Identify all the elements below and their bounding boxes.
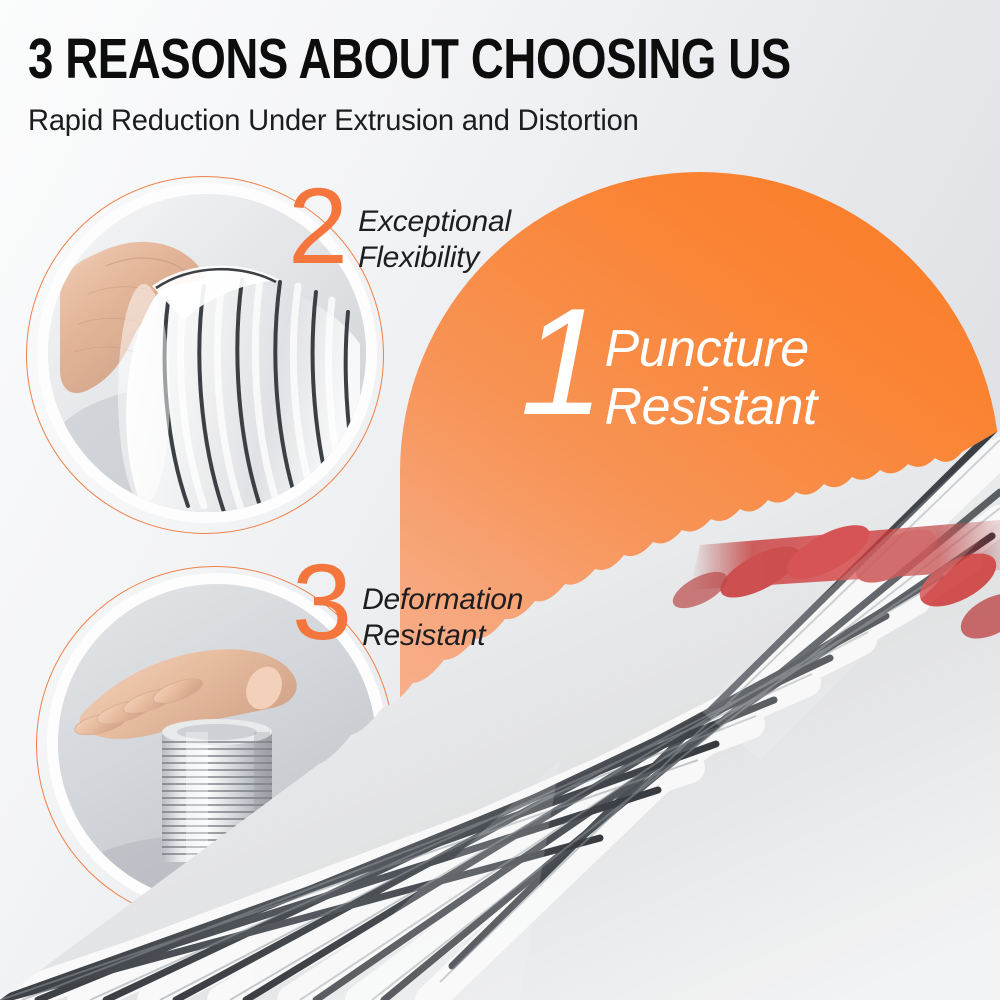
callout-label-3-line1: Deformation: [362, 582, 523, 618]
callout-puncture-resistant: 1 Puncture Resistant: [520, 292, 817, 436]
callout-label-2: Exceptional Flexibility: [358, 204, 511, 276]
callout-label-1: Puncture Resistant: [605, 320, 817, 436]
header-block: 3 REASONS ABOUT CHOOSING US Rapid Reduct…: [28, 30, 982, 138]
callout-label-1-line2: Resistant: [605, 378, 817, 436]
callout-exceptional-flexibility: 2 Exceptional Flexibility: [288, 180, 511, 276]
callout-label-2-line2: Flexibility: [358, 240, 511, 276]
callout-label-1-line1: Puncture: [605, 320, 817, 378]
infographic-canvas: 3 REASONS ABOUT CHOOSING US Rapid Reduct…: [0, 0, 1000, 1000]
callout-label-2-line1: Exceptional: [358, 204, 511, 240]
page-title: 3 REASONS ABOUT CHOOSING US: [28, 30, 791, 88]
callout-deformation-resistant: 3 Deformation Resistant: [292, 556, 523, 654]
callout-label-3: Deformation Resistant: [362, 582, 523, 654]
callout-number-1: 1: [520, 292, 599, 433]
page-subtitle: Rapid Reduction Under Extrusion and Dist…: [28, 104, 953, 138]
hose-orange-reflection: [640, 790, 900, 1000]
callout-number-3: 3: [292, 556, 350, 649]
callout-number-2: 2: [288, 180, 346, 273]
callout-label-3-line2: Resistant: [362, 618, 523, 654]
